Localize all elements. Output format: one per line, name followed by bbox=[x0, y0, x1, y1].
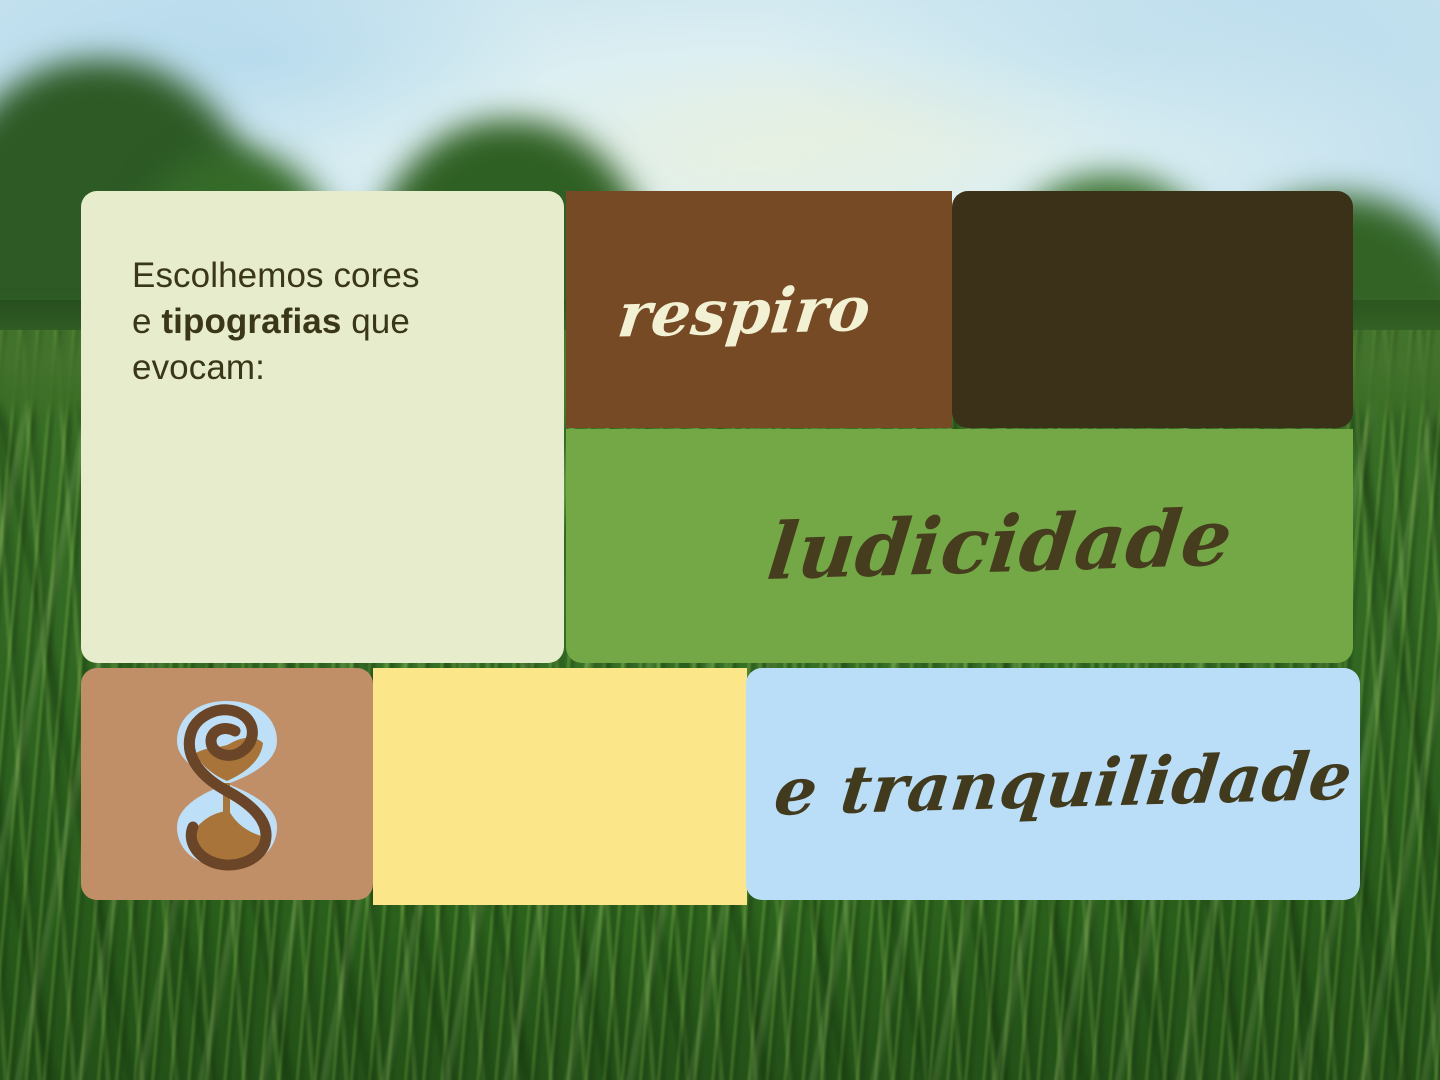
yellow-swatch-card bbox=[373, 668, 747, 905]
intro-line-2-bold: tipografias bbox=[161, 302, 341, 341]
tranquilidade-card: e tranquilidade bbox=[746, 668, 1360, 900]
intro-paragraph: Escolhemos corese tipografias queevocam: bbox=[132, 253, 520, 392]
tranquilidade-word: e tranquilidade bbox=[770, 737, 1356, 831]
respiro-card: respiro bbox=[566, 191, 952, 428]
hourglass-spiral-icon bbox=[165, 691, 289, 877]
intro-line-3: evocam: bbox=[132, 348, 265, 387]
respiro-word: respiro bbox=[614, 272, 875, 352]
slide-canvas: Escolhemos corese tipografias queevocam:… bbox=[0, 0, 1440, 1080]
logo-card bbox=[81, 668, 373, 900]
card-grid: Escolhemos corese tipografias queevocam:… bbox=[0, 0, 1440, 1080]
intro-card: Escolhemos corese tipografias queevocam: bbox=[81, 191, 564, 663]
ludicidade-word: ludicidade bbox=[763, 492, 1237, 597]
intro-line-2-prefix: e bbox=[132, 302, 161, 341]
dark-brown-swatch-card bbox=[952, 191, 1353, 428]
intro-line-1: Escolhemos cores bbox=[132, 256, 420, 295]
ludicidade-card: ludicidade bbox=[566, 429, 1353, 663]
intro-line-2-suffix: que bbox=[341, 302, 410, 341]
